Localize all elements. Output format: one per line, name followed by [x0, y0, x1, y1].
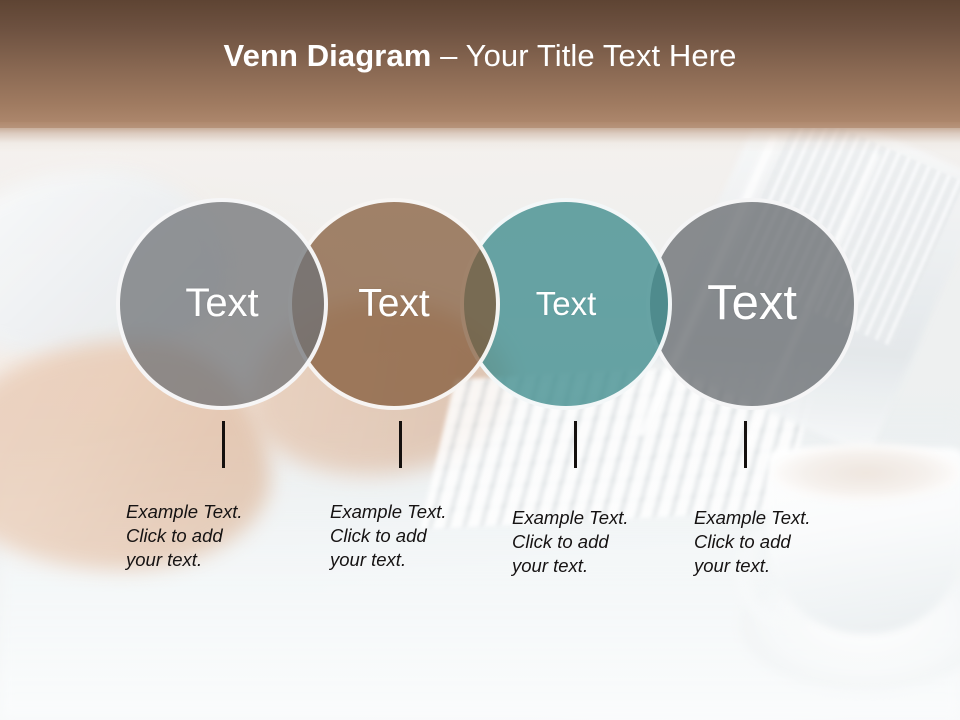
venn-circle-2-label: Text [358, 284, 430, 323]
caption-text-4[interactable]: Example Text. Click to add your text. [694, 506, 859, 578]
venn-circle-4-label: Text [707, 279, 797, 328]
venn-circle-3-label: Text [536, 287, 597, 320]
caption-text-2[interactable]: Example Text. Click to add your text. [330, 500, 495, 572]
slide-canvas: Venn Diagram – Your Title Text Here Text… [0, 0, 960, 720]
venn-circle-4[interactable]: Text [646, 198, 858, 410]
venn-circle-1-label: Text [185, 283, 258, 323]
caption-text-1[interactable]: Example Text. Click to add your text. [126, 500, 291, 572]
leader-tick-2 [399, 421, 402, 468]
venn-circle-1[interactable]: Text [116, 198, 328, 410]
leader-tick-4 [744, 421, 747, 468]
leader-tick-1 [222, 421, 225, 468]
caption-text-3[interactable]: Example Text. Click to add your text. [512, 506, 677, 578]
venn-diagram: Text Text Text Text [0, 0, 960, 720]
leader-tick-3 [574, 421, 577, 468]
